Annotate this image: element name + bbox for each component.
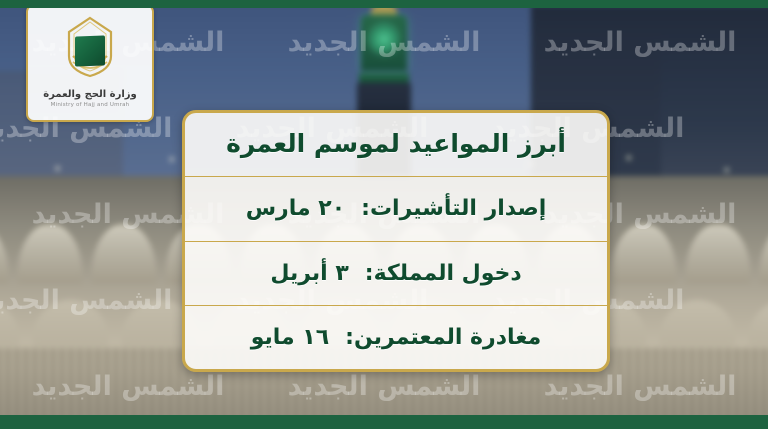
row-value: ٢٠ مارس	[246, 196, 345, 221]
row-value: ١٦ مايو	[251, 325, 329, 350]
table-row: مغادرة المعتمرين: ١٦ مايو	[185, 306, 607, 369]
logo-name-english: Ministry of Hajj and Umrah	[51, 102, 130, 108]
card-title-row: أبرز المواعيد لموسم العمرة	[185, 113, 607, 177]
ministry-logo-panel: وزارة الحج والعمرة Ministry of Hajj and …	[26, 4, 154, 122]
row-value: ٣ أبريل	[270, 261, 348, 286]
bottom-green-bar	[0, 415, 768, 429]
row-label: مغادرة المعتمرين:	[345, 325, 541, 350]
top-green-bar	[0, 0, 768, 8]
umrah-dates-card: أبرز المواعيد لموسم العمرة إصدار التأشير…	[182, 110, 610, 372]
row-label: إصدار التأشيرات:	[361, 196, 546, 221]
table-row: إصدار التأشيرات: ٢٠ مارس	[185, 177, 607, 241]
poster-stage: الشمس الجديد الشمس الجديد الشمس الجديد ا…	[0, 0, 768, 429]
page-title: أبرز المواعيد لموسم العمرة	[226, 130, 566, 159]
table-row: دخول المملكة: ٣ أبريل	[185, 242, 607, 306]
kaaba-shield-icon	[53, 14, 127, 88]
kaaba-icon	[75, 35, 105, 66]
row-label: دخول المملكة:	[365, 261, 522, 286]
logo-name-arabic: وزارة الحج والعمرة	[43, 89, 137, 100]
